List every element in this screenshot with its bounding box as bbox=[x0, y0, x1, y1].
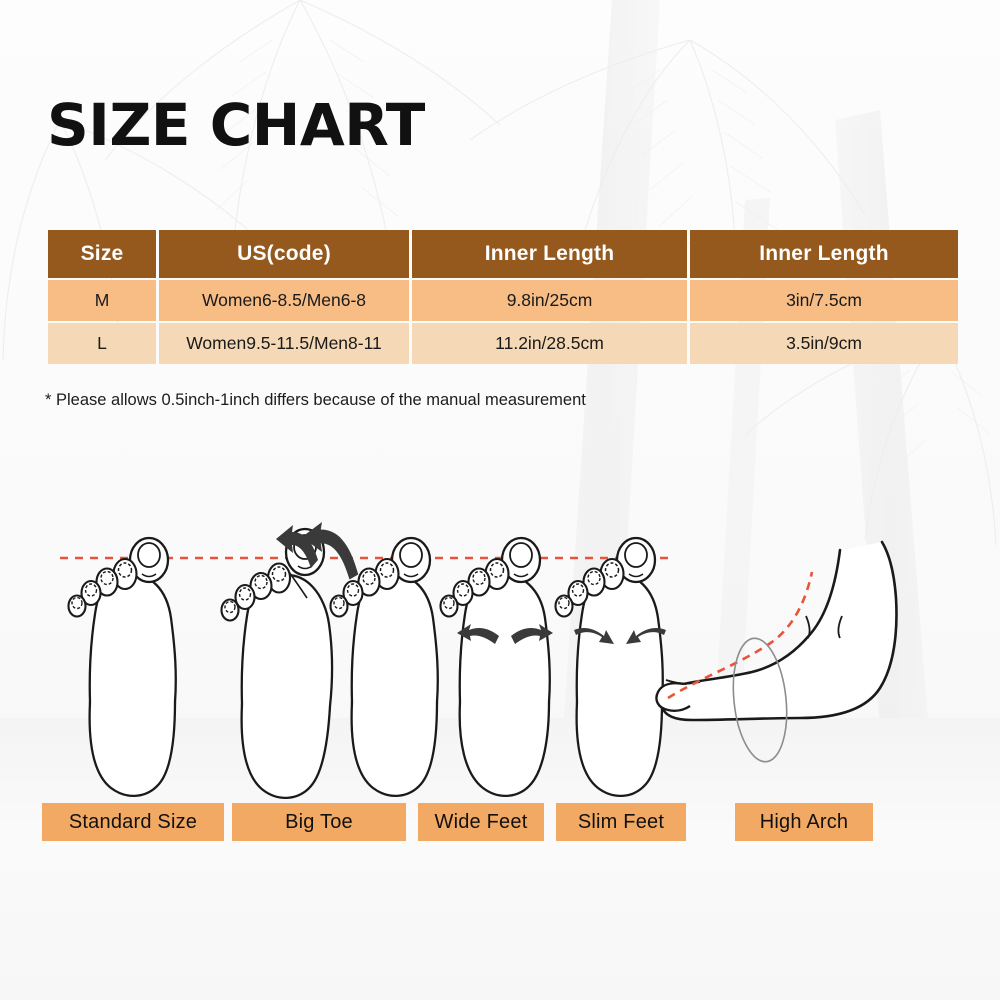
cell-size: M bbox=[48, 280, 156, 321]
table-row: M Women6-8.5/Men6-8 9.8in/25cm 3in/7.5cm bbox=[48, 280, 958, 321]
measurement-note: * Please allows 0.5inch-1inch differs be… bbox=[45, 391, 586, 410]
foot-sole-standard-icon bbox=[69, 538, 176, 796]
foot-sole-standard-icon bbox=[331, 538, 438, 796]
column-header-inner-length-1: Inner Length bbox=[412, 230, 687, 278]
cell-inner-length-2: 3.5in/9cm bbox=[690, 323, 958, 364]
foot-sole-slim-icon bbox=[556, 538, 667, 796]
cell-us-code: Women6-8.5/Men6-8 bbox=[159, 280, 409, 321]
cell-inner-length-1: 9.8in/25cm bbox=[412, 280, 687, 321]
foot-sole-bigtoe-icon bbox=[222, 529, 333, 798]
cell-inner-length-2: 3in/7.5cm bbox=[690, 280, 958, 321]
table-row: L Women9.5-11.5/Men8-11 11.2in/28.5cm 3.… bbox=[48, 323, 958, 364]
column-header-us-code: US(code) bbox=[159, 230, 409, 278]
foot-type-label-wide-feet: Wide Feet bbox=[418, 803, 544, 841]
column-header-size: Size bbox=[48, 230, 156, 278]
column-header-inner-length-2: Inner Length bbox=[690, 230, 958, 278]
cell-us-code: Women9.5-11.5/Men8-11 bbox=[159, 323, 409, 364]
cell-inner-length-1: 11.2in/28.5cm bbox=[412, 323, 687, 364]
foot-type-label-high-arch: High Arch bbox=[735, 803, 873, 841]
size-chart-table: Size US(code) Inner Length Inner Length … bbox=[45, 228, 961, 366]
foot-type-illustrations bbox=[0, 520, 1000, 820]
foot-side-higharch-icon bbox=[656, 542, 896, 764]
foot-type-label-standard-size: Standard Size bbox=[42, 803, 224, 841]
page-title: SIZE CHART bbox=[47, 96, 425, 154]
foot-sole-wide-icon bbox=[441, 538, 554, 796]
cell-size: L bbox=[48, 323, 156, 364]
table-header-row: Size US(code) Inner Length Inner Length bbox=[48, 230, 958, 278]
foot-type-label-slim-feet: Slim Feet bbox=[556, 803, 686, 841]
foot-type-label-big-toe: Big Toe bbox=[232, 803, 406, 841]
